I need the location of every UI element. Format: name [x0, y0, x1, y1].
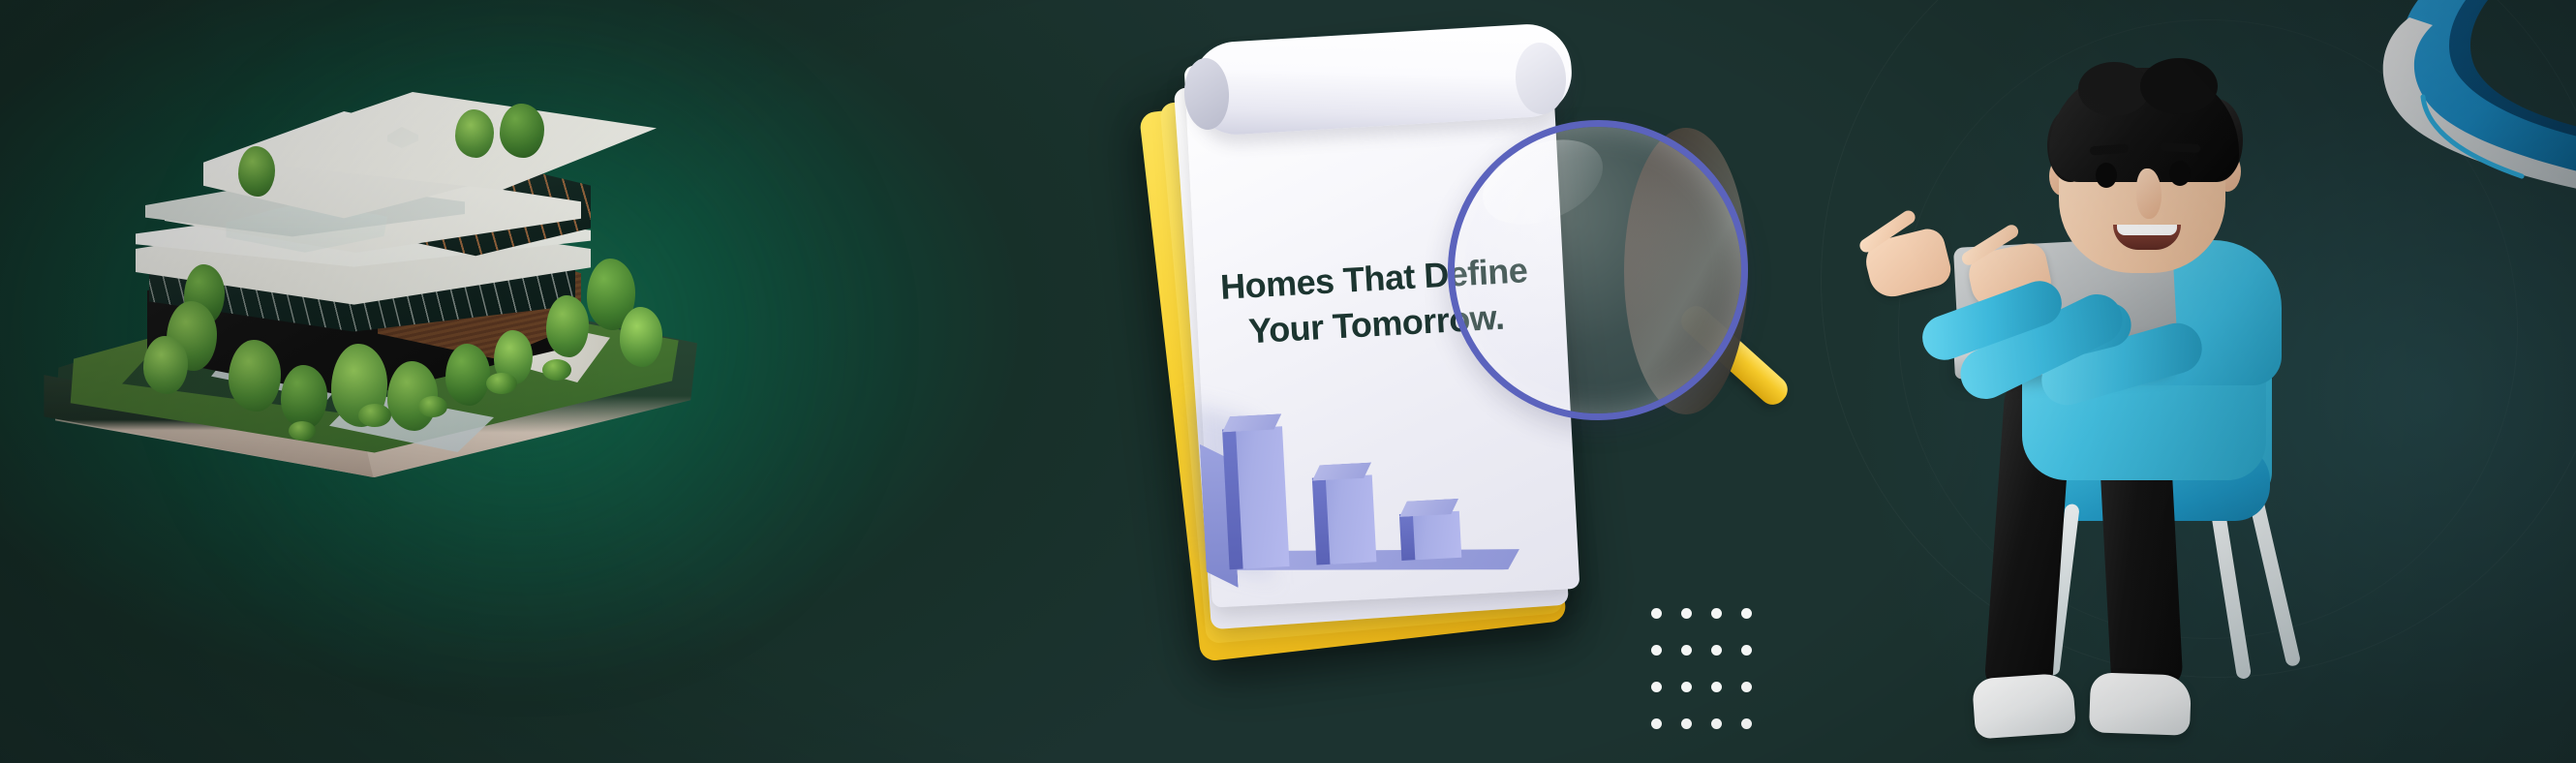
- background-vignette: [0, 0, 2576, 763]
- hero-banner: Homes That Define Your Tomorrow.: [0, 0, 2576, 763]
